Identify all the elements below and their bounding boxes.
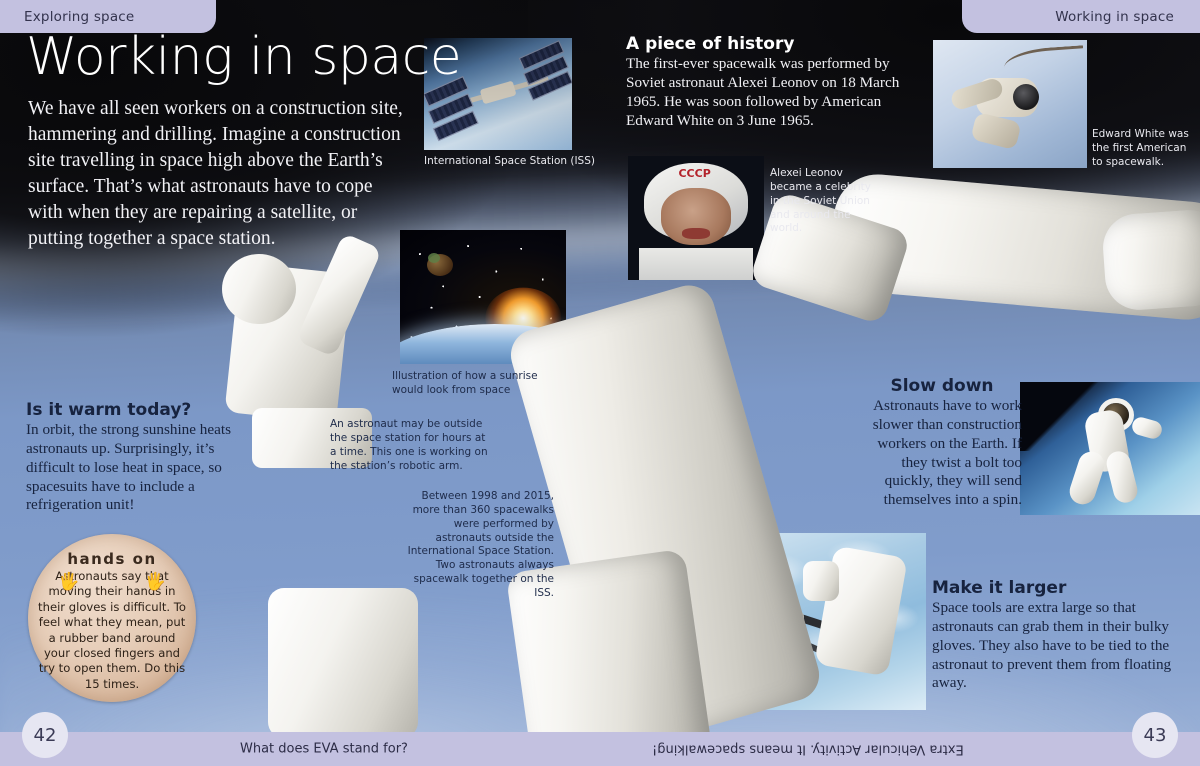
- page-number-left: 42: [22, 712, 68, 758]
- larger-heading: Make it larger: [932, 578, 1194, 598]
- photo-alexei-leonov: CCCP: [628, 156, 764, 280]
- caption-spacewalk-stat: Between 1998 and 2015, more than 360 spa…: [402, 490, 554, 601]
- caption-edward-white: Edward White was the first American to s…: [1092, 128, 1192, 170]
- caption-iss: International Space Station (ISS): [424, 155, 604, 169]
- block-make-it-larger: Make it larger Space tools are extra lar…: [932, 578, 1194, 693]
- block-a-piece-of-history: A piece of history The first-ever spacew…: [626, 34, 914, 130]
- arm-lower-grapple: [268, 588, 418, 738]
- page-number-right: 43: [1132, 712, 1178, 758]
- station-truss-right: [1101, 208, 1200, 312]
- tab-exploring-space[interactable]: Exploring space: [0, 0, 216, 33]
- hands-on-title: hands on: [67, 550, 156, 568]
- tab-left-label: Exploring space: [24, 9, 134, 25]
- footer-bar: What does EVA stand for? Extra Vehicular…: [0, 732, 1200, 766]
- footer-question: What does EVA stand for?: [240, 742, 408, 757]
- page-title: Working in space: [26, 30, 461, 84]
- tab-working-in-space[interactable]: Working in space: [962, 0, 1200, 33]
- slow-body: Astronauts have to work slower than cons…: [862, 397, 1022, 510]
- history-heading: A piece of history: [626, 34, 914, 54]
- hand-print-icon-left: 🖐: [58, 572, 79, 592]
- photo-untethered-spacewalk: [1020, 382, 1200, 515]
- history-body: The first-ever spacewalk was performed b…: [626, 55, 914, 130]
- astronaut-on-arm-helmet: [222, 254, 296, 324]
- warm-body: In orbit, the strong sunshine heats astr…: [26, 421, 244, 515]
- caption-sunrise: Illustration of how a sunrise would look…: [392, 370, 552, 398]
- intro-paragraph: We have all seen workers on a constructi…: [28, 96, 408, 252]
- caption-robotic-arm: An astronaut may be outside the space st…: [330, 418, 490, 473]
- hand-print-icon-right: 🖐: [145, 572, 166, 592]
- warm-heading: Is it warm today?: [26, 400, 244, 420]
- hands-on-activity-badge: hands on 🖐 🖐 Astronauts say that moving …: [28, 534, 196, 702]
- tab-right-label: Working in space: [1055, 9, 1174, 25]
- photo-edward-white: [933, 40, 1087, 168]
- larger-body: Space tools are extra large so that astr…: [932, 599, 1194, 693]
- caption-leonov: Alexei Leonov became a celebrity in the …: [770, 167, 880, 236]
- block-slow-down: Slow down Astronauts have to work slower…: [862, 376, 1022, 510]
- slow-heading: Slow down: [862, 376, 1022, 396]
- block-is-it-warm-today: Is it warm today? In orbit, the strong s…: [26, 400, 244, 515]
- footer-answer-upside-down: Extra Vehicular Activity. It means space…: [652, 742, 964, 757]
- spread-page: International Space Station (ISS) Illust…: [0, 0, 1200, 766]
